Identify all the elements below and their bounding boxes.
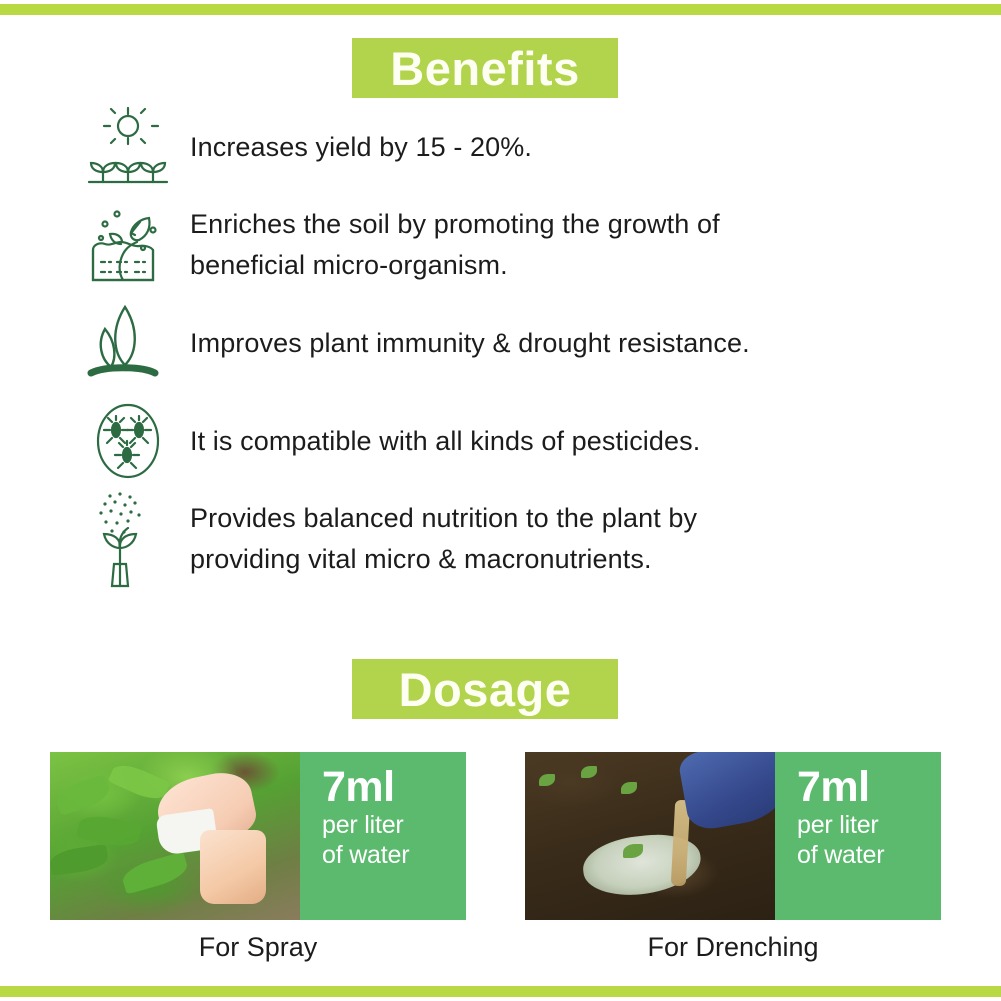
list-item: Provides balanced nutrition to the plant…: [80, 496, 960, 582]
benefits-list: Increases yield by 15 - 20%. Enriches th…: [80, 104, 960, 594]
watering-can-drenching-soil-photo: [525, 752, 775, 920]
dosage-caption-spray: For Spray: [50, 932, 466, 963]
benefits-title: Benefits: [390, 45, 579, 92]
dosage-title: Dosage: [399, 666, 572, 713]
dose-unit-line-1: per liter: [797, 810, 941, 840]
sprout-with-nutrients-icon: [80, 496, 176, 582]
dose-unit-line-1: per liter: [322, 810, 466, 840]
leaf-shape: [50, 844, 109, 876]
watering-can-shape: [677, 752, 775, 832]
list-item-label: Enriches the soil by promoting the growt…: [190, 204, 720, 286]
dose-amount: 7ml: [322, 764, 466, 810]
top-accent-bar: [0, 4, 1001, 15]
dose-unit-line-2: of water: [322, 840, 466, 870]
dose-amount: 7ml: [797, 764, 941, 810]
list-item-label: Improves plant immunity & drought resist…: [190, 323, 750, 364]
list-item: Increases yield by 15 - 20%.: [80, 104, 960, 190]
list-item-label: Provides balanced nutrition to the plant…: [190, 498, 697, 580]
sprout-shape: [581, 766, 597, 778]
two-leaves-icon: [80, 300, 176, 386]
list-item-label: It is compatible with all kinds of pesti…: [190, 421, 700, 462]
insects-in-circle-icon: [80, 398, 176, 484]
dosage-panel-drenching: 7ml per liter of water: [775, 752, 941, 920]
spray-bottle-shape: [200, 830, 266, 904]
list-item-label: Increases yield by 15 - 20%.: [190, 127, 532, 168]
sprout-shape: [621, 782, 637, 794]
plant-in-soil-icon: [80, 202, 176, 288]
sprout-shape: [539, 774, 555, 786]
leaf-shape: [76, 812, 142, 850]
leaf-shape: [120, 851, 191, 894]
dosage-card-drenching: 7ml per liter of water: [525, 752, 941, 920]
benefits-section-banner: Benefits: [352, 38, 618, 98]
dosage-panel-spray: 7ml per liter of water: [300, 752, 466, 920]
list-item: It is compatible with all kinds of pesti…: [80, 398, 960, 484]
dosage-caption-drenching: For Drenching: [525, 932, 941, 963]
list-item: Enriches the soil by promoting the growt…: [80, 202, 960, 288]
hand-spraying-plants-photo: [50, 752, 300, 920]
dose-unit-line-2: of water: [797, 840, 941, 870]
dosage-section-banner: Dosage: [352, 659, 618, 719]
list-item: Improves plant immunity & drought resist…: [80, 300, 960, 386]
bottom-accent-bar: [0, 986, 1001, 997]
dosage-card-spray: 7ml per liter of water: [50, 752, 466, 920]
sun-over-sprouts-icon: [80, 104, 176, 190]
leaf-shape: [53, 774, 112, 815]
